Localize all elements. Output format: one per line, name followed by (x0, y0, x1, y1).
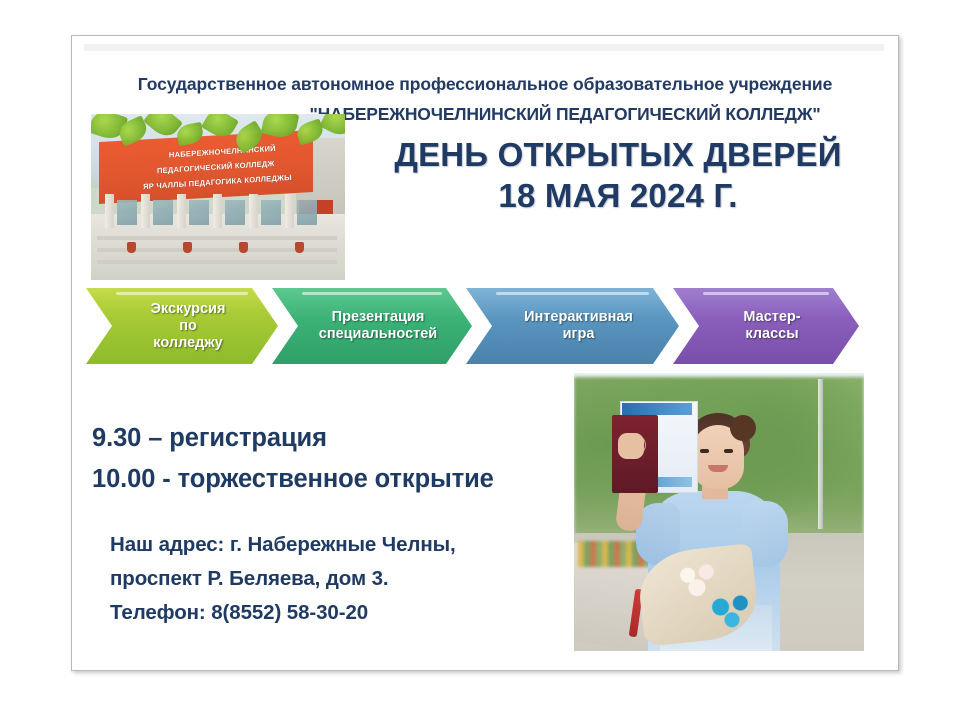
building-column (177, 194, 186, 228)
certificate-header-band (622, 403, 692, 415)
chevron-master-classes[interactable]: Мастер- классы (673, 288, 859, 364)
chevron-highlight (116, 292, 248, 295)
building-step (97, 260, 337, 264)
phone-line: Телефон: 8(8552) 58-30-20 (110, 596, 580, 630)
planter-pot (183, 242, 192, 253)
building-window (297, 200, 317, 225)
foliage-overlay (91, 114, 345, 158)
contacts-block: Наш адрес: г. Набережные Челны, проспект… (110, 528, 580, 630)
presentation-slide: Государственное автономное профессиональ… (71, 35, 899, 671)
event-title: ДЕНЬ ОТКРЫТЫХ ДВЕРЕЙ (342, 134, 894, 175)
building-window (153, 200, 173, 225)
building-window (261, 200, 281, 225)
planter-pot (239, 242, 248, 253)
building-column (213, 194, 222, 228)
graduate-photo (574, 373, 864, 651)
chevron-highlight (703, 292, 829, 295)
hand-holding-diploma (618, 433, 644, 459)
chevron-highlight (302, 292, 442, 295)
chevron-label: Экскурсия по колледжу (133, 301, 232, 352)
schedule-opening: 10.00 - торжественное открытие (92, 459, 572, 500)
lamp-post (818, 379, 823, 529)
screenshot-canvas: Государственное автономное профессиональ… (0, 0, 960, 720)
address-city-line: Наш адрес: г. Набережные Челны, (110, 528, 580, 562)
building-window (225, 200, 245, 225)
chevron-interactive-game[interactable]: Интерактивная игра (466, 288, 679, 364)
chevron-label: Презентация специальностей (301, 309, 443, 343)
building-step (97, 236, 337, 240)
slide-top-band (84, 44, 884, 51)
college-building-photo: НАБЕРЕЖНОЧЕЛНИНСКИЙ ПЕДАГОГИЧЕСКИЙ КОЛЛЕ… (91, 114, 345, 280)
graduate-hair-bun (730, 415, 756, 441)
building-column (105, 194, 114, 228)
chevron-excursion[interactable]: Экскурсия по колледжу (86, 288, 278, 364)
schedule-registration: 9.30 – регистрация (92, 418, 572, 459)
event-title-block: ДЕНЬ ОТКРЫТЫХ ДВЕРЕЙ 18 МАЯ 2024 Г. (342, 134, 894, 218)
activities-chevron-band: Экскурсия по колледжу Презентация специа… (86, 288, 890, 364)
building-column (249, 194, 258, 228)
building-column (285, 194, 294, 228)
bouquet-blue-flowers (706, 591, 758, 631)
chevron-label: Интерактивная игра (506, 309, 639, 343)
schedule-block: 9.30 – регистрация 10.00 - торжественное… (92, 418, 572, 500)
eye-left (700, 449, 709, 453)
chevron-presentation[interactable]: Презентация специальностей (272, 288, 472, 364)
building-column (141, 194, 150, 228)
building-window (189, 200, 209, 225)
eye-right (724, 449, 733, 453)
chevron-highlight (496, 292, 649, 295)
planter-pot (295, 242, 304, 253)
institution-type-heading: Государственное автономное профессиональ… (72, 74, 898, 95)
building-window (117, 200, 137, 225)
event-date: 18 МАЯ 2024 Г. (342, 175, 894, 218)
address-street-line: проспект Р. Беляева, дом 3. (110, 562, 580, 596)
planter-pot (127, 242, 136, 253)
chevron-label: Мастер- классы (725, 309, 806, 343)
